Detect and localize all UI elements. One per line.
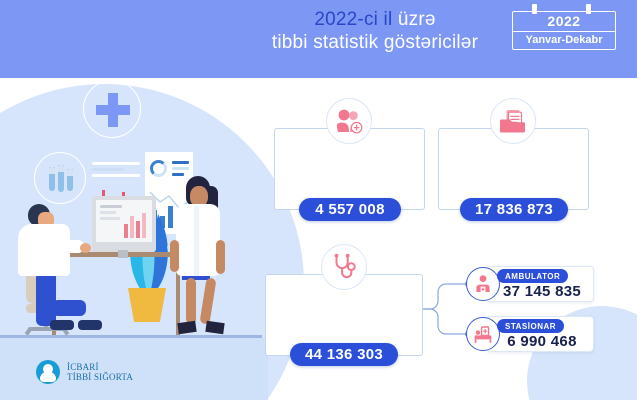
plant-pot xyxy=(128,288,166,322)
calendar-badge: 2022 Yanvar-Dekabr xyxy=(512,4,616,50)
floor-line xyxy=(0,335,262,338)
hospital-bed-icon xyxy=(466,317,500,351)
folder-documents-icon xyxy=(490,98,536,144)
subcard-inpatient-tag: STASİONAR xyxy=(497,319,564,333)
logo-line-2: TİBBİ SIĞORTA xyxy=(67,372,133,382)
title-line2: tibbi statistik göstəricilər xyxy=(210,31,540,54)
monitor-illustration xyxy=(92,196,156,252)
logo-line-1: İCBARİ xyxy=(67,362,133,372)
card-medical-services-value: 44 136 303 xyxy=(290,343,398,366)
test-tubes-icon xyxy=(34,152,86,204)
logo: İCBARİ TİBBİ SIĞORTA xyxy=(36,360,133,384)
outpatient-person-icon xyxy=(466,267,500,301)
card-applications-value: 17 836 873 xyxy=(460,198,568,221)
infographic-canvas: İCBARİ TİBBİ SIĞORTA 2022-ci il üzrə tib… xyxy=(0,0,637,400)
title-line1-rest: üzrə xyxy=(392,9,435,30)
card-patients-value: 4 557 008 xyxy=(299,198,401,221)
calendar-range: Yanvar-Dekabr xyxy=(513,32,615,49)
subcard-inpatient-value: 6 990 468 xyxy=(496,333,588,350)
subcard-ambulatory-value: 37 145 835 xyxy=(496,283,588,300)
insurance-logo-icon xyxy=(36,360,60,384)
medical-plus-icon xyxy=(83,80,141,138)
patients-group-icon xyxy=(326,98,372,144)
calendar-year: 2022 xyxy=(513,12,615,32)
page-title: 2022-ci il üzrə tibbi statistik göstəric… xyxy=(210,8,540,54)
stethoscope-icon xyxy=(321,244,367,290)
title-year: 2022-ci il xyxy=(314,9,392,30)
subcard-ambulatory-tag: AMBULATOR xyxy=(497,269,568,283)
calendar-icon xyxy=(512,4,616,11)
